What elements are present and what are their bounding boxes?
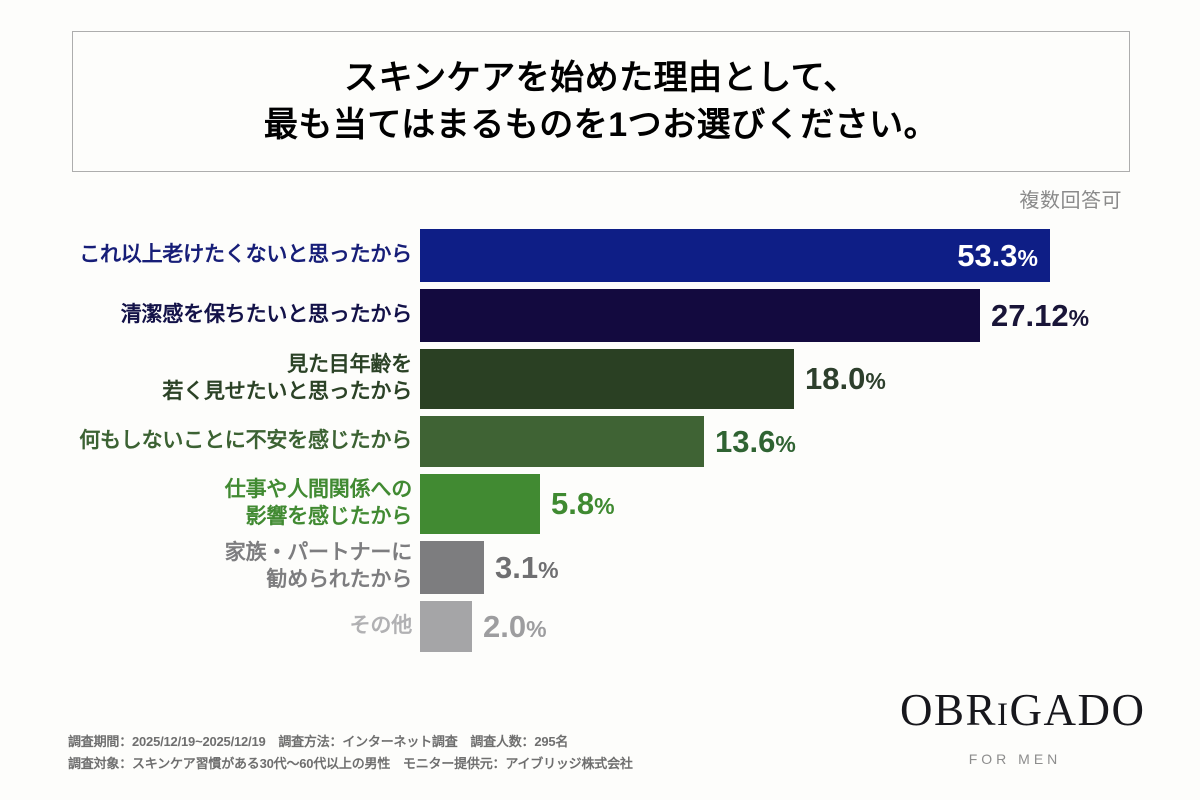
page-title-line-1: スキンケアを始めた理由として、	[344, 55, 858, 102]
bar-value-number: 3.1	[495, 550, 538, 585]
bar	[420, 474, 540, 534]
bar-track: 53.3%	[420, 229, 1200, 282]
brand-logo-smallcap-i: I	[997, 697, 1010, 733]
chart-row: 家族・パートナーに 勧められたから3.1%	[0, 537, 1200, 597]
bar-value-number: 53.3	[957, 238, 1017, 273]
page-title-line-2: 最も当てはまるものを1つお選びください。	[264, 102, 938, 149]
bar	[420, 541, 484, 594]
bar-value-number: 27.12	[991, 298, 1069, 333]
chart-row: 仕事や人間関係への 影響を感じたから5.8%	[0, 470, 1200, 537]
bar-value-percent-sign: %	[1018, 245, 1038, 271]
survey-metadata-line-2: 調査対象：スキンケア習慣がある30代〜60代以上の男性 モニター提供元：アイブリ…	[68, 753, 633, 775]
bar: 53.3%	[420, 229, 1050, 282]
bar-category-label: 家族・パートナーに 勧められたから	[0, 540, 420, 594]
bar-value-percent-sign: %	[865, 368, 885, 394]
brand-logo-wordmark: OBRIGADO	[900, 688, 1130, 733]
chart-row: これ以上老けたくないと思ったから53.3%	[0, 225, 1200, 285]
chart-row: 何もしないことに不安を感じたから13.6%	[0, 412, 1200, 470]
bar-track: 13.6%	[420, 416, 1200, 467]
bar-track: 2.0%	[420, 601, 1200, 652]
bar-value-label: 3.1%	[484, 552, 559, 583]
bar-category-label: 仕事や人間関係への 影響を感じたから	[0, 477, 420, 531]
bar-value-percent-sign: %	[526, 616, 546, 642]
bar-value-label: 18.0%	[794, 363, 886, 394]
bar-category-label: 何もしないことに不安を感じたから	[0, 428, 420, 455]
bar-category-label: これ以上老けたくないと思ったから	[0, 242, 420, 269]
bar-track: 3.1%	[420, 541, 1200, 594]
bar-value-percent-sign: %	[775, 431, 795, 457]
bar-category-label: その他	[0, 613, 420, 640]
bar-value-percent-sign: %	[538, 557, 558, 583]
bar-value-label: 5.8%	[540, 488, 615, 519]
multiple-answer-note: 複数回答可	[1020, 184, 1123, 213]
bar	[420, 601, 472, 652]
bar-category-label: 清潔感を保ちたいと思ったから	[0, 302, 420, 329]
bar-track: 5.8%	[420, 474, 1200, 534]
bar	[420, 349, 794, 409]
bar-value-label: 13.6%	[704, 426, 796, 457]
bar-value-number: 18.0	[805, 361, 865, 396]
bar-track: 18.0%	[420, 349, 1200, 409]
bar-value-percent-sign: %	[594, 493, 614, 519]
survey-metadata-line-1: 調査期間：2025/12/19~2025/12/19 調査方法：インターネット調…	[68, 731, 633, 753]
bar-value-percent-sign: %	[1069, 305, 1089, 331]
bar-value-number: 13.6	[715, 424, 775, 459]
bar	[420, 416, 704, 467]
brand-logo-tagline: FOR MEN	[900, 751, 1130, 767]
brand-logo: OBRIGADO FOR MEN	[900, 688, 1130, 767]
bar-value-label: 27.12%	[980, 300, 1089, 331]
brand-logo-part-a: OBR	[900, 685, 997, 735]
bar-value-number: 2.0	[483, 609, 526, 644]
chart-row: その他2.0%	[0, 597, 1200, 655]
survey-metadata: 調査期間：2025/12/19~2025/12/19 調査方法：インターネット調…	[68, 731, 633, 776]
title-box: スキンケアを始めた理由として、 最も当てはまるものを1つお選びください。	[72, 31, 1130, 172]
bar-track: 27.12%	[420, 289, 1200, 342]
chart-row: 清潔感を保ちたいと思ったから27.12%	[0, 285, 1200, 345]
bar-category-label: 見た目年齢を 若く見せたいと思ったから	[0, 352, 420, 406]
bar	[420, 289, 980, 342]
brand-logo-part-b: GADO	[1010, 685, 1146, 735]
chart-row: 見た目年齢を 若く見せたいと思ったから18.0%	[0, 345, 1200, 412]
bar-value-number: 5.8	[551, 486, 594, 521]
bar-value-label: 2.0%	[472, 611, 547, 642]
bar-chart: これ以上老けたくないと思ったから53.3%清潔感を保ちたいと思ったから27.12…	[0, 225, 1200, 655]
bar-value-label: 53.3%	[957, 240, 1050, 271]
